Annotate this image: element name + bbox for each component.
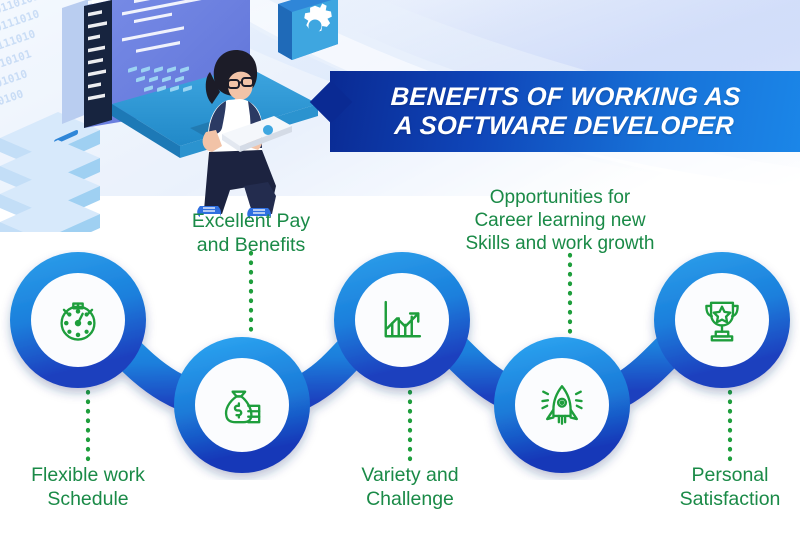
infographic-canvas: 01101010 10111010 10111010 10010101 0010…: [0, 0, 800, 533]
trophy-icon: [675, 273, 769, 367]
benefit-node-career-learning-opportunities[interactable]: [515, 358, 609, 452]
server-stack: [0, 112, 100, 232]
svg-text:01010100: 01010100: [0, 87, 25, 117]
rocket-icon: [515, 358, 609, 452]
growth-chart-icon: [355, 273, 449, 367]
binary-code-backdrop: 01101010 10111010 10111010 10010101 0010…: [0, 0, 47, 117]
title-banner: BENEFITS OF WORKING AS A SOFTWARE DEVELO…: [330, 71, 800, 152]
benefit-label-excellent-pay-and-benefits: Excellent Pay and Benefits: [160, 210, 342, 258]
page-title: BENEFITS OF WORKING AS A SOFTWARE DEVELO…: [389, 83, 742, 140]
benefit-label-career-learning-opportunities: Opportunities for Career learning new Sk…: [440, 186, 680, 256]
gear-icon: [278, 0, 338, 60]
developer-illustration: 01101010 10111010 10111010 10010101 0010…: [0, 0, 340, 232]
benefit-label-personal-satisfaction: Personal Satisfaction: [642, 464, 800, 512]
benefit-node-personal-satisfaction[interactable]: [675, 273, 769, 367]
stopwatch-icon: [31, 273, 125, 367]
benefit-label-variety-and-challenge: Variety and Challenge: [322, 464, 498, 512]
benefit-node-flexible-work-schedule[interactable]: [31, 273, 125, 367]
benefit-node-excellent-pay-and-benefits[interactable]: [195, 358, 289, 452]
female-developer: [197, 50, 292, 221]
benefit-label-flexible-work-schedule: Flexible work Schedule: [0, 464, 176, 512]
benefit-node-variety-and-challenge[interactable]: [355, 273, 449, 367]
money-bag-icon: [195, 358, 289, 452]
